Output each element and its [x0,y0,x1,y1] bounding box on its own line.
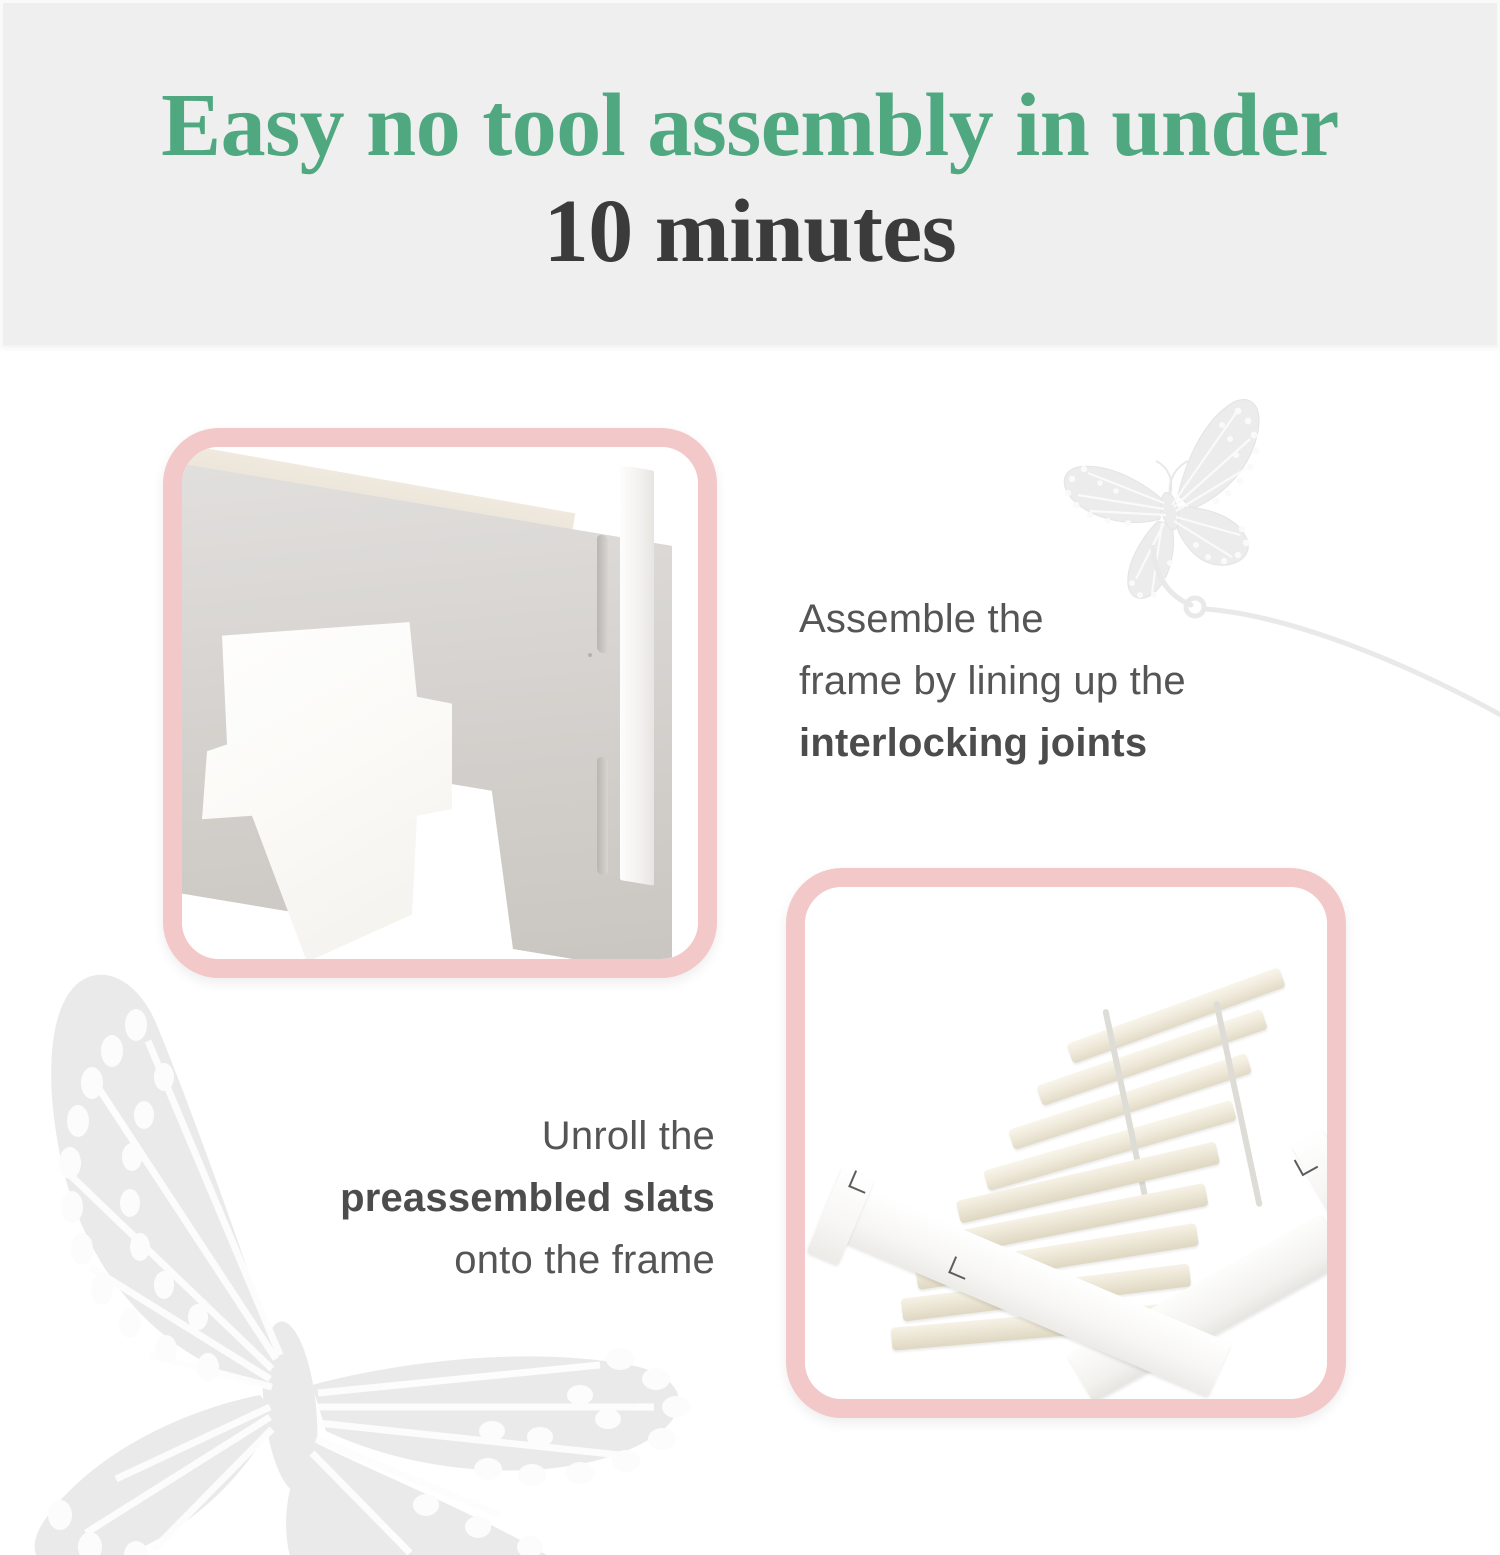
headline-line-2: 10 minutes [544,187,957,277]
caption-joints-line-2: frame by lining up the [799,650,1269,712]
photo-preassembled-slats [805,887,1327,1399]
product-infographic-page: Easy no tool assembly in under 10 minute… [0,0,1500,1500]
caption-interlocking-joints: Assemble the frame by lining up the inte… [799,588,1269,774]
caption-joints-emphasis: interlocking joints [799,712,1269,774]
joint-slot-lower [597,756,608,876]
panel-pin-hole [588,653,592,657]
joint-slot-upper [597,534,608,654]
photo-card-interlocking-joints[interactable] [163,428,717,978]
bed-leg-panel [202,622,452,959]
caption-joints-line-1: Assemble the [799,588,1269,650]
headline-line-1: Easy no tool assembly in under [161,81,1339,171]
bed-frame-right-post [1291,1129,1327,1226]
bed-base-assembly [805,887,1327,1399]
caption-preassembled-slats: Unroll the preassembled slats onto the f… [240,1105,715,1291]
photo-interlocking-joints [182,447,698,959]
bed-side-panel-edge [620,465,654,886]
caption-slats-line-2: onto the frame [240,1229,715,1291]
header-band: Easy no tool assembly in under 10 minute… [0,0,1500,345]
caption-slats-emphasis: preassembled slats [240,1167,715,1229]
photo-card-preassembled-slats[interactable] [786,868,1346,1418]
caption-slats-line-1: Unroll the [240,1105,715,1167]
